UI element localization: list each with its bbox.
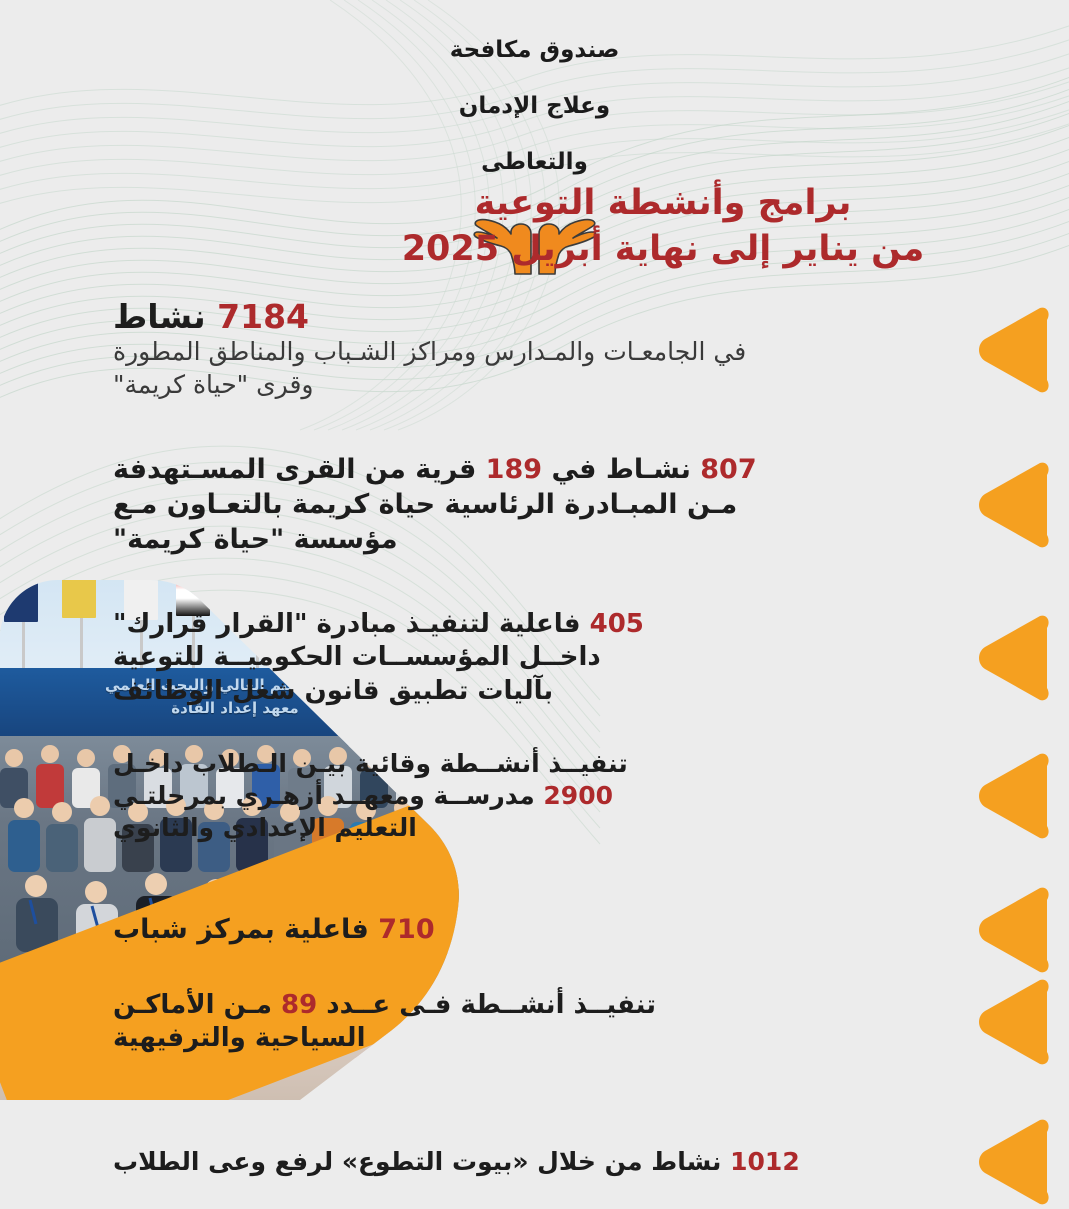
stat-item-4-line-1: تنفيــذ أنشــطة وقائية بيـن الـطلاب داخـ… [113,748,965,780]
stat-item-5-number: 710 [378,914,434,945]
stat-item-6-line-2: السياحية والترفيهية [113,1022,965,1055]
title-line-1: برامج وأنشطة التوعية [283,180,1043,226]
stat-item-7-line-1-end: نشاط من خلال «بيوت التطوع» لرفع وعى الطل… [113,1147,730,1176]
stat-item-5-line-1-end: فاعلية بمركز شباب [113,914,378,945]
stat-item-6-line-1-start: تنفيــذ أنشــطة فـى عــدد [317,990,656,1020]
stat-item-7-number: 1012 [730,1147,800,1176]
flag-navy [4,578,38,622]
stat-item-6: تنفيــذ أنشــطة فـى عــدد 89 مـن الأماكـ… [113,978,1053,1066]
stat-item-7: 1012 نشاط من خلال «بيوت التطوع» لرفع وعى… [113,1118,1053,1206]
orange-triangle-left-icon [975,978,1053,1066]
stat-item-4: تنفيــذ أنشــطة وقائية بيـن الـطلاب داخـ… [113,748,1053,844]
stat-item-1: 7184 نشاط في الجامعـات والمـدارس ومراكز … [113,298,1053,401]
stat-item-5-line-1: 710 فاعلية بمركز شباب [113,912,965,947]
stat-item-4-line-3: التعليم الإعدادي والثانوي [113,812,965,844]
stat-item-1-line-2: وقرى "حياة كريمة" [113,369,965,402]
orange-triangle-left-icon [975,886,1053,974]
stat-item-3: 405 فاعلية لتنفيـذ مبادرة "القرار قرارك"… [113,608,1053,708]
stat-item-5-text: 710 فاعلية بمركز شباب [113,912,965,947]
stat-item-2-line-1-end: قرية من القرى المسـتهدفة [113,454,486,485]
orange-triangle-left-icon [975,461,1053,549]
stat-item-2-line-1-mid: نشـاط في [542,454,700,485]
stat-item-4-line-2: 2900 مدرســة ومعهــد أزهـري بمرحلتـي [113,780,965,812]
stat-item-2-line-3: مؤسسة "حياة كريمة" [113,522,965,557]
stat-item-1-line-1: في الجامعـات والمـدارس ومراكز الشـباب وا… [113,336,965,369]
stat-item-2-number-b: 189 [486,454,542,485]
stat-item-2-number-a: 807 [700,454,756,485]
stat-item-4-number: 2900 [543,781,613,810]
stat-item-6-text: تنفيــذ أنشــطة فـى عــدد 89 مـن الأماكـ… [113,989,965,1056]
stat-item-2-line-2: مـن المبـادرة الرئاسية حياة كريمة بالتعـ… [113,487,965,522]
logo-line-3: والتعاطى [0,148,1069,176]
logo-line-1: صندوق مكافحة [0,36,1069,64]
stat-item-1-unit: نشاط [113,297,206,336]
stat-item-3-number: 405 [590,609,644,639]
stat-item-6-line-1-end: مـن الأماكـن [113,990,281,1020]
stat-item-6-number: 89 [281,990,317,1020]
stat-item-2: 807 نشـاط في 189 قرية من القرى المسـتهدف… [113,452,1053,557]
stat-item-6-line-1: تنفيــذ أنشــطة فـى عــدد 89 مـن الأماكـ… [113,989,965,1022]
stat-item-3-line-2: داخــل المؤسســات الحكوميــة للتوعية [113,641,965,674]
logo-line-2: وعلاج الإدمان [0,92,1069,120]
stat-item-4-text: تنفيــذ أنشــطة وقائية بيـن الـطلاب داخـ… [113,748,965,844]
flag-yellow [62,574,96,618]
title-line-2: من يناير إلى نهاية أبريل 2025 [283,226,1043,272]
stat-item-2-line-1: 807 نشـاط في 189 قرية من القرى المسـتهدف… [113,452,965,487]
page-title: برامج وأنشطة التوعية من يناير إلى نهاية … [283,180,1043,272]
stat-item-2-text: 807 نشـاط في 189 قرية من القرى المسـتهدف… [113,452,965,557]
stat-item-1-headline: 7184 نشاط [113,298,965,336]
stat-item-7-text: 1012 نشاط من خلال «بيوت التطوع» لرفع وعى… [113,1146,965,1178]
stat-item-7-line-1: 1012 نشاط من خلال «بيوت التطوع» لرفع وعى… [113,1146,965,1178]
orange-triangle-left-icon [975,1118,1053,1206]
stat-item-4-line-2-end: مدرســة ومعهــد أزهـري بمرحلتـي [113,781,543,810]
stat-item-1-number: 7184 [217,297,309,336]
flag-pole [22,574,25,682]
infographic-canvas: صندوق مكافحة وعلاج الإدمان والتعاطى برام… [0,0,1069,1209]
stat-item-1-text: 7184 نشاط في الجامعـات والمـدارس ومراكز … [113,298,965,401]
orange-triangle-left-icon [975,752,1053,840]
logo-wordmark: صندوق مكافحة وعلاج الإدمان والتعاطى [0,8,1069,204]
stat-item-3-line-1: 405 فاعلية لتنفيـذ مبادرة "القرار قرارك" [113,608,965,641]
stat-item-3-line-3: بآليات تطبيق قانون شغل الوظائف [113,675,965,708]
stat-item-3-line-1-end: فاعلية لتنفيـذ مبادرة "القرار قرارك" [113,609,590,639]
orange-triangle-left-icon [975,306,1053,394]
orange-triangle-left-icon [975,614,1053,702]
stat-item-5: 710 فاعلية بمركز شباب [113,886,1053,974]
stat-item-3-text: 405 فاعلية لتنفيـذ مبادرة "القرار قرارك"… [113,608,965,708]
